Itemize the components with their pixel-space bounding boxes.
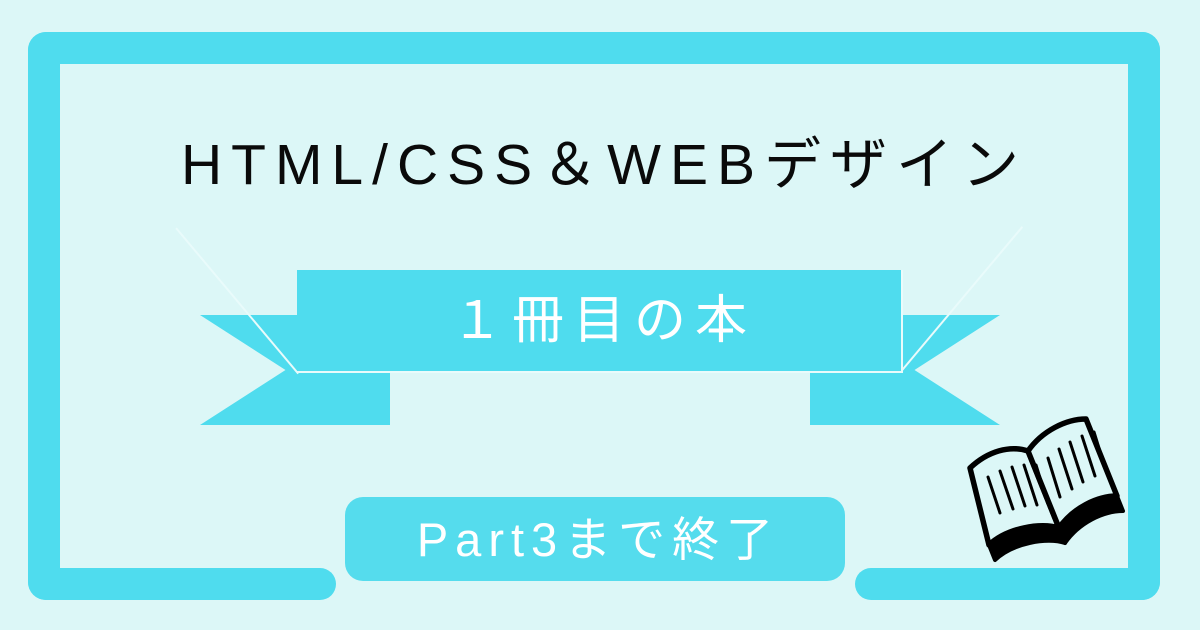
ribbon-fold-line-left (175, 227, 299, 374)
thumbnail-canvas: HTML/CSS＆WEBデザイン １冊目の本 Part3まで終了 (0, 0, 1200, 630)
ribbon-label: １冊目の本 (442, 295, 756, 347)
frame-bottom-left-bar (28, 568, 336, 600)
ribbon-band: １冊目の本 (297, 270, 903, 373)
page-title: HTML/CSS＆WEBデザイン (0, 133, 1200, 199)
ribbon-fold-line-right (899, 226, 1023, 373)
status-badge-label: Part3まで終了 (410, 516, 780, 563)
status-badge[interactable]: Part3まで終了 (345, 497, 845, 581)
open-book-icon (962, 405, 1134, 577)
frame-top-bar (28, 32, 1160, 64)
